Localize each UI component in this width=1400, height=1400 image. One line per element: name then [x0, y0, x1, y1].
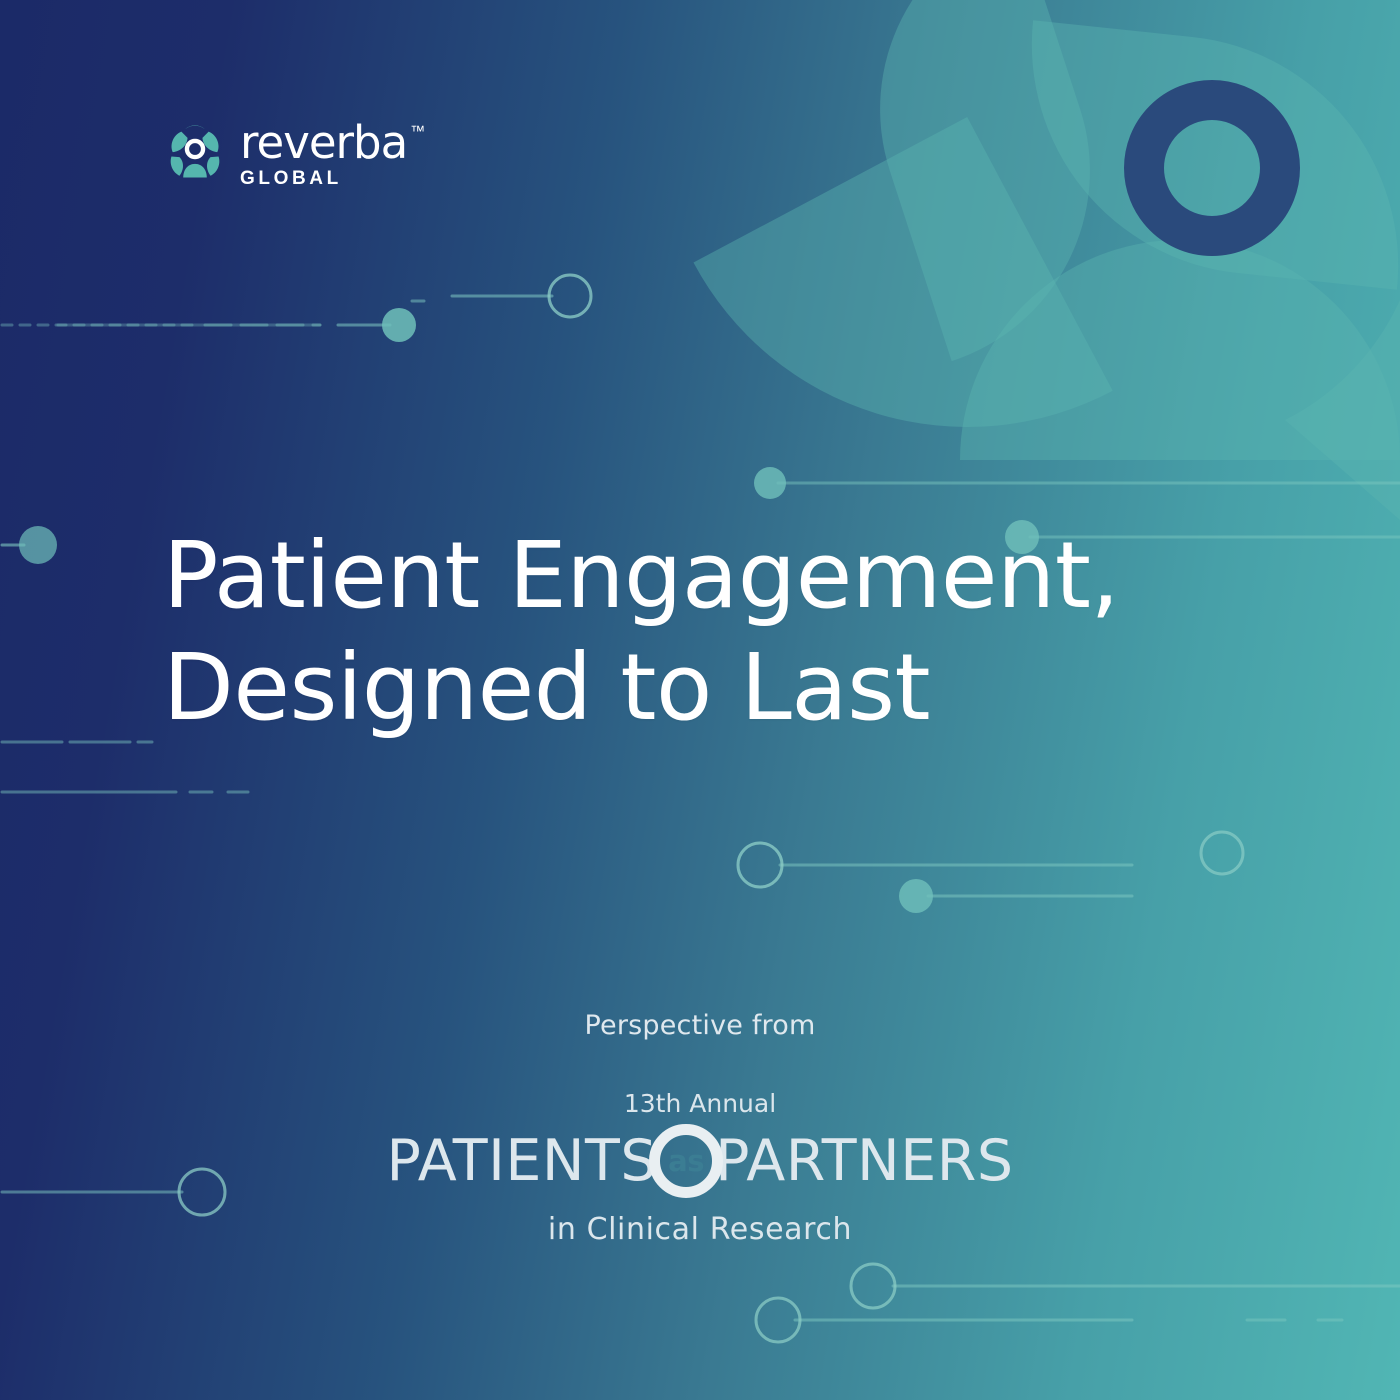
event-word-left: PATIENTS — [386, 1128, 657, 1194]
event-lockup: Perspective from 13th Annual PATIENTS as… — [0, 1010, 1400, 1247]
reverba-global-logo[interactable]: reverba ™ GLOBAL — [164, 120, 425, 188]
petal-shape-3 — [960, 240, 1400, 460]
petal-shape-6 — [1285, 300, 1400, 520]
event-edition: 13th Annual — [624, 1089, 776, 1118]
page-title: Patient Engagement, Designed to Last — [163, 520, 1119, 744]
slide-canvas: reverba ™ GLOBAL Patient Engagement, Des… — [0, 0, 1400, 1400]
reverba-pentagon-petal-mark — [164, 123, 226, 185]
petal-shape-1 — [828, 0, 1142, 361]
as-badge-icon: as — [649, 1124, 723, 1198]
event-word-right: PARTNERS — [715, 1128, 1013, 1194]
petal-shape-4 — [1009, 20, 1400, 290]
navy-ring-icon — [1144, 100, 1280, 236]
perspective-label: Perspective from — [585, 1010, 816, 1041]
as-badge-label: as — [668, 1144, 704, 1178]
logo-wordmark: reverba — [240, 120, 407, 165]
logo-subword: GLOBAL — [240, 169, 425, 188]
trademark-icon: ™ — [410, 124, 425, 139]
event-title-row: PATIENTS as PARTNERS — [386, 1124, 1013, 1198]
event-tagline: in Clinical Research — [548, 1212, 852, 1247]
